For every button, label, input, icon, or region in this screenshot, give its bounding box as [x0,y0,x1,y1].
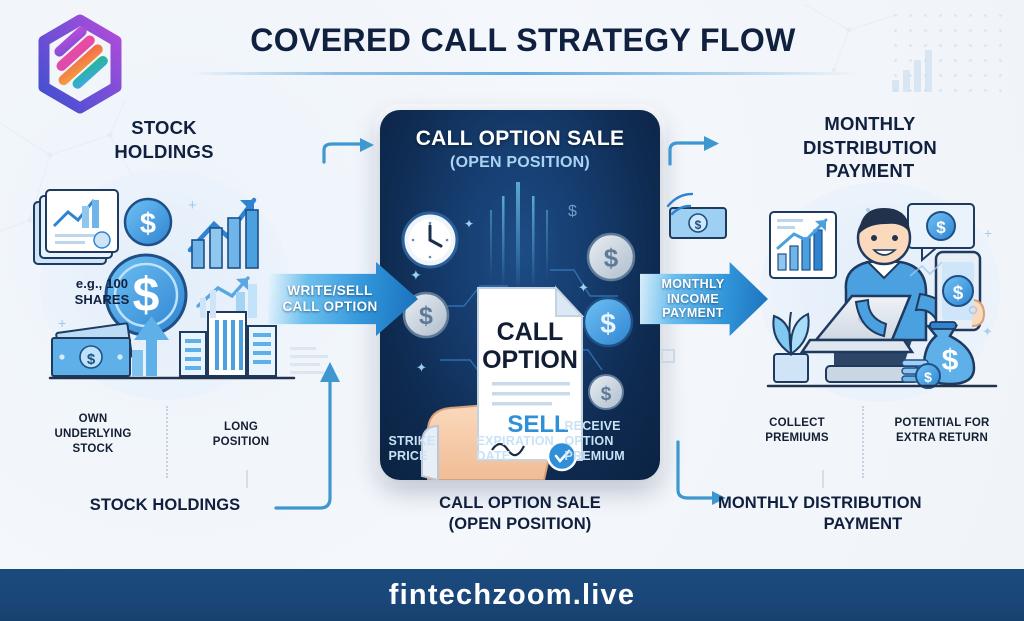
svg-text:$: $ [942,344,959,377]
svg-text:✦: ✦ [410,267,422,283]
heading-stock-holdings-line1: STOCK [64,116,264,140]
shares-badge-line1: e.g., 100 [52,276,152,292]
svg-text:✦: ✦ [464,217,474,231]
heading-monthly-distribution-payment: MONTHLY DISTRIBUTION PAYMENT [760,112,980,183]
sublabel-potential-l2: EXTRA RETURN [872,431,1012,446]
growth-chart-icon [190,200,258,268]
svg-text:$: $ [604,243,619,273]
svg-text:$: $ [419,302,433,330]
svg-text:$: $ [695,218,702,232]
title-underline-rule [188,72,858,75]
footer-site-name: fintechzoom.live [389,579,635,612]
buildings-icon [180,312,276,376]
silver-coin-bottom-right-icon: $ [589,375,623,409]
blue-coin-right-icon: $ [584,298,632,346]
connector-arrow-left-to-card [320,140,380,164]
light-rays-decoration [490,182,548,292]
sublabel-potential-extra-return: POTENTIAL FOR EXTRA RETURN [872,416,1012,446]
bottom-label-call-option-sale: CALL OPTION SALE (OPEN POSITION) [395,493,645,534]
shares-badge-line2: SHARES [52,292,152,308]
banknotes-icon: $ [52,323,132,376]
heading-right-line2: DISTRIBUTION [760,136,980,160]
svg-text:✦: ✦ [416,360,427,375]
svg-text:$: $ [601,384,612,405]
small-dollar-decoration: $ [568,203,577,220]
bottom-label-stock-holdings: STOCK HOLDINGS [40,495,290,516]
document-line2: OPTION [482,346,578,374]
svg-text:✦: ✦ [578,280,589,295]
clock-icon [403,213,457,267]
plant-icon [773,312,808,382]
call-option-sale-card: CALL OPTION SALE (OPEN POSITION) [380,110,660,480]
bottom-label-one-text: STOCK HOLDINGS [40,495,290,516]
svg-text:$: $ [936,218,946,237]
connector-arrow-card-to-right [664,136,726,166]
tick-decoration-left [246,470,248,488]
svg-text:✦: ✦ [982,324,993,339]
arrow-write-sell-l1: WRITE/SELL [282,283,377,299]
svg-text:+: + [188,197,197,214]
bottom-label-three-l1: MONTHLY DISTRIBUTION [718,493,1008,514]
left-panel-divider [166,406,168,478]
bottom-label-three-l2: PAYMENT [718,514,1008,535]
tick-decoration-right [822,470,824,488]
svg-text:$: $ [140,208,156,240]
card-foot-expiration-date: EXPIRATION DATE [476,434,563,464]
report-documents-icon [34,190,118,264]
svg-text:$: $ [953,283,964,304]
heading-right-line3: PAYMENT [760,159,980,183]
sublabel-own-underlying-stock: OWN UNDERLYING STOCK [28,412,158,457]
sublabel-collect-premiums: COLLECT PREMIUMS [742,416,852,446]
right-panel-divider [862,406,864,478]
arrow-write-sell-l2: CALL OPTION [282,299,377,315]
svg-text:$: $ [87,351,96,368]
heading-right-line1: MONTHLY [760,112,980,136]
heading-stock-holdings-line2: HOLDINGS [64,140,264,164]
svg-text:+: + [58,315,66,331]
footer-bar: fintechzoom.live [0,569,1024,621]
card-footer-items: STRIKE PRICE EXPIRATION DATE RECEIVE OPT… [388,419,652,464]
fintechzoom-hexagon-logo [30,14,130,116]
arrow-monthly-income-l1: MONTHLY [661,277,724,292]
sublabel-collect-l1: COLLECT [742,416,852,431]
dollar-coin-small-icon: $ [125,199,171,245]
bottom-label-two-l1: CALL OPTION SALE [395,493,645,514]
svg-text:$: $ [600,308,616,339]
card-foot-strike-price: STRIKE PRICE [388,434,475,464]
sublabel-own-l1: OWN [28,412,158,427]
arrow-monthly-income-l3: PAYMENT [661,306,724,321]
arrow-monthly-income-l2: INCOME [661,292,724,307]
bottom-label-two-l2: (OPEN POSITION) [395,514,645,535]
svg-text:$: $ [924,369,932,385]
sublabel-own-l2: UNDERLYING [28,427,158,442]
heading-stock-holdings: STOCK HOLDINGS [64,116,264,163]
wireless-banknote-icon: $ [660,192,732,250]
growth-chart-card-icon [770,212,836,278]
card-foot-receive-option-premium: RECEIVE OPTION PREMIUM [564,419,651,464]
monthly-distribution-illustration: $ [760,190,1010,410]
shares-badge: e.g., 100 SHARES [52,276,152,307]
svg-text:+: + [984,225,992,241]
sublabel-collect-l2: PREMIUMS [742,431,852,446]
sublabel-potential-l1: POTENTIAL FOR [872,416,1012,431]
document-line1: CALL [497,318,564,346]
silver-coin-right-icon: $ [588,234,634,280]
sublabel-own-l3: STOCK [28,442,158,457]
background-bar-chart-decoration [892,50,932,92]
bottom-label-monthly-distribution-payment: MONTHLY DISTRIBUTION PAYMENT [718,493,1008,534]
infographic-canvas: COVERED CALL STRATEGY FLOW STOCK HOLDING… [0,0,1024,621]
small-square-decoration [660,348,686,374]
connector-stock-holdings-up [272,348,398,512]
page-title: COVERED CALL STRATEGY FLOW [178,22,868,59]
